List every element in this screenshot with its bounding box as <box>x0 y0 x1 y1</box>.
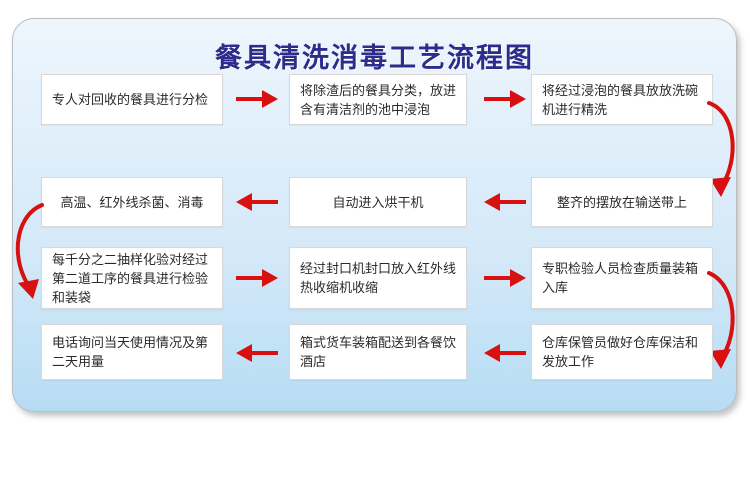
process-node-step02: 将除渣后的餐具分类，放进 含有清洁剂的池中浸泡 <box>289 74 467 125</box>
arrow-step04-to-step05 <box>484 193 526 211</box>
arrow-step05-to-step06 <box>236 193 278 211</box>
arrow-step08-to-step09 <box>484 269 526 287</box>
arrow-shaft <box>484 97 512 101</box>
node-label: 专人对回收的餐具进行分检 <box>52 90 208 109</box>
process-node-step01: 专人对回收的餐具进行分检 <box>41 74 223 125</box>
arrow-step10-to-step11 <box>484 344 526 362</box>
arrow-shaft <box>498 200 526 204</box>
arrow-shaft <box>236 97 264 101</box>
arrow-shaft <box>250 200 278 204</box>
node-label: 整齐的摆放在输送带上 <box>557 193 687 212</box>
node-label: 经过封口机封口放入红外线 热收缩机收缩 <box>300 259 456 297</box>
node-label: 电话询问当天使用情况及第 二天用量 <box>52 333 208 371</box>
node-label: 高温、红外线杀菌、消毒 <box>60 193 203 212</box>
arrow-step02-to-step03 <box>484 90 526 108</box>
process-node-step08: 经过封口机封口放入红外线 热收缩机收缩 <box>289 247 467 309</box>
process-node-step03: 将经过浸泡的餐具放放洗碗 机进行精洗 <box>531 74 713 125</box>
process-node-step04: 整齐的摆放在输送带上 <box>531 177 713 227</box>
process-node-step05: 自动进入烘干机 <box>289 177 467 227</box>
arrow-shaft <box>236 276 264 280</box>
arrow-head <box>484 193 500 211</box>
node-label: 每千分之二抽样化验对经过 第二道工序的餐具进行检验 和装袋 <box>52 250 208 307</box>
arrow-step01-to-step02 <box>236 90 278 108</box>
node-label: 箱式货车装箱配送到各餐饮 酒店 <box>300 333 456 371</box>
process-node-step10: 仓库保管员做好仓库保洁和 发放工作 <box>531 324 713 380</box>
node-label: 自动进入烘干机 <box>332 193 423 212</box>
arrow-step07-to-step08 <box>236 269 278 287</box>
flowchart-panel: 餐具清洗消毒工艺流程图 专人对回收的餐具进行分检 将除渣后的餐具分类，放进 含有… <box>12 18 737 412</box>
page-title: 餐具清洗消毒工艺流程图 <box>13 36 736 75</box>
arrow-head <box>510 90 526 108</box>
node-label: 专职检验人员检查质量装箱 入库 <box>542 259 698 297</box>
arrow-head <box>510 269 526 287</box>
arrow-head <box>236 344 252 362</box>
node-label: 仓库保管员做好仓库保洁和 发放工作 <box>542 333 698 371</box>
process-node-step06: 高温、红外线杀菌、消毒 <box>41 177 223 227</box>
arrow-head <box>236 193 252 211</box>
arrow-head <box>262 269 278 287</box>
process-node-step09: 专职检验人员检查质量装箱 入库 <box>531 247 713 309</box>
arrow-shaft <box>484 276 512 280</box>
node-label: 将除渣后的餐具分类，放进 含有清洁剂的池中浸泡 <box>300 81 456 119</box>
node-label: 将经过浸泡的餐具放放洗碗 机进行精洗 <box>542 81 698 119</box>
arrow-shaft <box>498 351 526 355</box>
arrow-shaft <box>250 351 278 355</box>
process-node-step12: 电话询问当天使用情况及第 二天用量 <box>41 324 223 380</box>
process-node-step11: 箱式货车装箱配送到各餐饮 酒店 <box>289 324 467 380</box>
arrow-head <box>262 90 278 108</box>
arrow-head <box>484 344 500 362</box>
process-node-step07: 每千分之二抽样化验对经过 第二道工序的餐具进行检验 和装袋 <box>41 247 223 309</box>
arrow-step11-to-step12 <box>236 344 278 362</box>
